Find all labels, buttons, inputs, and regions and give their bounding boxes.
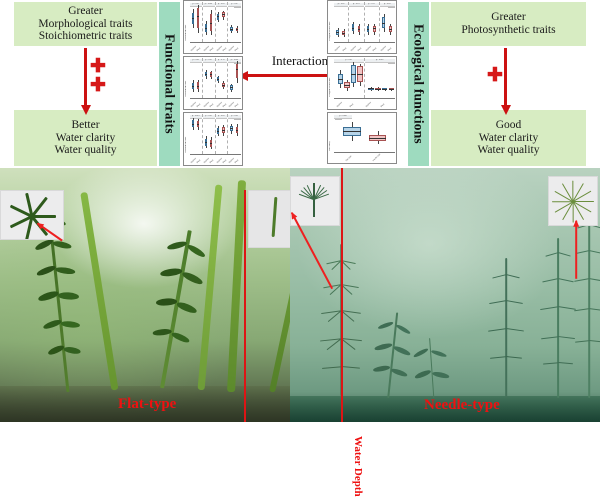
axis-label-y: Water clarity [329,116,334,151]
axis-label-y: Functional trait value [185,116,190,153]
facet-title: p < 0.01 [203,59,215,64]
facet: p < 0.001 [334,114,395,152]
boxplot-panel-R1[interactable]: Ecological function value p < 0.05 p < 0… [327,0,397,54]
box-better-water-clarity-quality: Better Water clarity Water quality [14,110,157,166]
box-line: Morphological traits [38,18,132,31]
facet-title: p < 0.01 [203,115,215,120]
box-line: Water clarity [479,132,538,145]
banner-label: Functional traits [162,34,178,134]
facet: p < 0.01 [190,2,203,42]
boxplot-panel-R3[interactable]: Water clarity p < 0.001 Flat-type [327,112,397,164]
concept-diagram: Greater Morphological traits Stoichiomet… [0,0,600,168]
needle-leaf-whorl-inset [548,176,598,226]
tick-label: Shallow [336,102,342,108]
box-line: Water quality [478,144,540,157]
tick-label: Deep [380,103,385,108]
down-arrow-icon-right [504,48,507,106]
tick-label: Shallow [216,102,222,108]
flat-type-label: Flat-type [118,396,176,413]
facet: p < 0.05 [380,2,395,42]
tick-label: Shallow [381,46,387,52]
facet-title: p = 0.12 [216,59,228,64]
plus-icon-left-2: ✚ [90,76,106,95]
down-arrow-icon-left [84,48,87,106]
facet: p = 0.07 [228,2,241,42]
boxplot-panel-R2[interactable]: Ecological function value p < 0.01 [327,56,397,110]
flat-leaf-whorl-inset [0,190,64,240]
facet-title: p < 0.05 [380,3,395,8]
facet: p < 0.05 [334,2,349,42]
boxplot-panel-L1[interactable]: Functional trait value p < 0.01 p < 0.00… [183,0,243,54]
banner-ecological-functions: Ecological functions [408,2,429,166]
facet-title: p < 0.001 [365,59,396,64]
facet-title: p = 0.21 [365,3,379,8]
facet-title: p < 0.01 [349,3,363,8]
facet: p < 0.05 [216,114,229,154]
facet-title: p < 0.05 [216,115,228,120]
axis-tick-labels: Shallow Deep Shallow Deep Shallow Deep S… [190,155,241,165]
tick-label: Shallow [191,102,197,108]
tick-label: Shallow [216,158,222,164]
ecological-functions-plot-column: Ecological function value p < 0.05 p < 0… [327,0,397,168]
plot-area: p < 0.001 p < 0.01 [190,114,241,154]
facet: p < 0.001 [190,114,203,154]
plus-icon-right-1: ✚ [487,66,503,85]
aquatic-plant [486,258,526,398]
plot-area: p < 0.001 [334,114,395,152]
tick-label: Shallow [216,46,222,52]
box-line: Greater [68,5,102,18]
tick-label: Deep [209,103,214,108]
facet: p < 0.01 [334,58,365,98]
boxplot-panel-L3[interactable]: Functional trait value p < 0.001 p < 0.0… [183,112,243,166]
tick-label: Deep [234,47,239,52]
tick-label: Deep [222,47,227,52]
banner-functional-traits: Functional traits [159,2,180,166]
box-line: Water quality [55,144,117,157]
box-line: Good [496,119,522,132]
box-line: Stoichiometric traits [39,30,133,43]
box-line: Better [71,119,99,132]
facet-title: p < 0.01 [190,3,202,8]
tick-label: Deep [209,159,214,164]
boxplot-panel-L2[interactable]: Functional trait value p < 0.05 p < 0.01 [183,56,243,110]
facet-title: p < 0.001 [228,59,241,64]
tick-label: Deep [358,47,363,52]
tick-label: Shallow [366,102,372,108]
tick-label: Deep [373,47,378,52]
depth-measure-line [341,168,343,422]
box-greater-morphological-stoichiometric: Greater Morphological traits Stoichiomet… [14,2,157,46]
tick-label: Shallow [335,46,341,52]
box-line: Greater [491,11,525,24]
tick-label: Deep [222,103,227,108]
facet: p < 0.001 [203,2,216,42]
tick-label: Deep [197,47,202,52]
tick-label: Shallow [350,46,356,52]
needle-type-label: Needle-type [424,397,500,414]
plus-icon-left-1: ✚ [90,57,106,76]
facet: p < 0.05 [216,2,229,42]
tick-label: Deep [387,47,392,52]
tick-label: Deep [234,159,239,164]
tick-label: Flat-type [346,155,353,162]
facet-title: p < 0.05 [228,115,241,120]
tick-label: Deep [222,159,227,164]
axis-tick-labels: Shallow Deep Shallow Deep [334,99,395,109]
functional-traits-plot-column: Functional trait value p < 0.01 p < 0.00… [183,0,243,168]
facet: p < 0.01 [203,58,216,98]
photo-panel-group: Shallower WD [0,168,600,422]
facet-title: p < 0.05 [334,3,348,8]
tick-label: Needle-type [373,153,382,162]
facet: p < 0.01 [349,2,364,42]
facet-title: p < 0.01 [334,59,364,64]
tick-label: Shallow [203,158,209,164]
facet-title: p < 0.001 [190,115,202,120]
box-line: Photosynthetic traits [461,24,555,37]
axis-label-y: Ecological function value [329,60,334,97]
needle-leaf-pinnate-inset [290,176,340,226]
plant-stem [429,338,435,398]
facet: p < 0.05 [190,58,203,98]
axis-tick-labels: Flat-type Needle-type [334,153,395,163]
facet: p < 0.05 [228,114,241,154]
tick-label: Deep [342,47,347,52]
facet-title: p < 0.05 [216,3,228,8]
plot-area: p < 0.05 p < 0.01 [334,2,395,42]
plant-stem [557,238,559,398]
tick-label: Deep [197,159,202,164]
pointer-arrow-icon [575,221,577,279]
banner-label: Ecological functions [411,24,427,144]
box-good-water-clarity-quality: Good Water clarity Water quality [431,110,586,166]
axis-tick-labels: Shallow Deep Shallow Deep Shallow Deep S… [190,99,241,109]
axis-tick-labels: Shallow Deep Shallow Deep Shallow Deep S… [190,43,241,53]
tick-label: Deep [350,103,355,108]
depth-measure-line [244,190,246,422]
photo-needle-type-tank [290,168,600,422]
plot-area: p < 0.01 p < 0.001 [190,2,241,42]
box-line: Water clarity [56,132,115,145]
tick-label: Shallow [191,46,197,52]
facet: p < 0.001 [228,58,241,98]
plot-area: p < 0.05 p < 0.01 [190,58,241,98]
photo-flat-type-tank: Shallower WD [0,168,300,422]
plant-stem [588,208,590,398]
facet-title: p = 0.07 [228,3,241,8]
axis-label-y: Functional trait value [185,4,190,41]
facet: p < 0.001 [365,58,396,98]
axis-tick-labels: Shallow Deep Shallow Deep Shallow Deep S… [334,43,395,53]
tick-label: Shallow [203,102,209,108]
facet-title: p < 0.001 [334,115,352,120]
tick-label: Shallow [366,46,372,52]
facet: p = 0.12 [216,58,229,98]
facet-title: p < 0.05 [190,59,202,64]
aquatic-plant [410,337,454,400]
water-depth-label: Water Depth [352,436,364,497]
facet: p < 0.01 [203,114,216,154]
tick-label: Shallow [191,158,197,164]
box-greater-photosynthetic: Greater Photosynthetic traits [431,2,586,46]
tick-label: Deep [209,47,214,52]
graphical-abstract-figure: Greater Morphological traits Stoichiomet… [0,0,600,422]
tick-label: Shallow [203,46,209,52]
tick-label: Deep [197,103,202,108]
facet: p = 0.21 [365,2,380,42]
plot-area: p < 0.01 p [334,58,395,98]
facet-title: p < 0.001 [203,3,215,8]
tick-label: Deep [234,103,239,108]
axis-label-y: Functional trait value [185,60,190,97]
axis-label-y: Ecological function value [329,4,334,41]
